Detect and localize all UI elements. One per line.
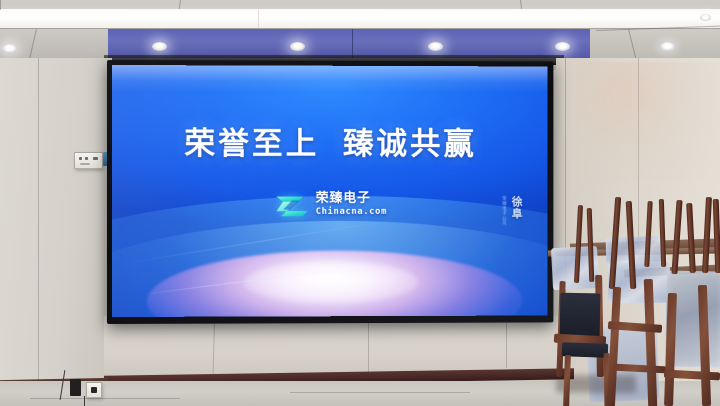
floor-seam-2 — [30, 398, 180, 399]
wall-outlet-upper-left[interactable] — [74, 152, 103, 169]
soffit-seam — [352, 29, 353, 58]
wall-seam-left-1 — [38, 58, 39, 388]
bottom-glow-ellipse — [147, 251, 522, 317]
outlet-plug-black — [70, 379, 81, 396]
ceiling-joint-d — [0, 0, 1, 10]
headline-left: 荣誉至上 — [184, 126, 319, 162]
slide-signature: 荣臻电子公司 徐阜 — [500, 196, 523, 226]
display-panel: 荣誉至上臻诚共赢 — [112, 65, 548, 317]
outlet-slot — [91, 387, 97, 393]
wall-seam-lower-2 — [368, 318, 369, 374]
furniture-group — [548, 175, 720, 406]
power-cord-2 — [84, 396, 85, 406]
floor-seam-1 — [290, 392, 470, 393]
signature-big-text: 徐阜 — [508, 196, 524, 220]
light-streak-2 — [122, 219, 399, 264]
background-arc-lower — [112, 221, 548, 317]
ceiling-light-strip — [0, 9, 720, 28]
chair-front-leg-left — [563, 355, 571, 406]
outlet-slot — [85, 157, 88, 160]
chair-leg-c2 — [659, 199, 666, 267]
outlet-slot — [80, 163, 90, 165]
ceiling-soffit — [108, 29, 590, 58]
wall-left — [0, 58, 112, 406]
downlight-7 — [700, 14, 711, 21]
wall-right-light-sheen — [576, 62, 720, 182]
wall-display[interactable]: 荣誉至上臻诚共赢 — [107, 60, 559, 324]
chair-leg-d1 — [671, 200, 682, 274]
logo-company-en: Chinacna.com — [316, 208, 387, 217]
signature-small-text: 荣臻电子公司 — [500, 196, 506, 226]
downlight-5 — [555, 42, 570, 51]
chair-backrest-cushion — [560, 293, 601, 338]
chair-leg-d2 — [686, 203, 696, 273]
logo-company-cn: 荣臻电子 — [316, 192, 387, 205]
chair-leg-e2 — [713, 199, 720, 273]
display-glass-top-reflection — [112, 65, 548, 92]
headline-right: 臻诚共赢 — [343, 126, 477, 162]
downlight-2 — [152, 42, 167, 51]
ceiling-light-strip-seam — [258, 9, 259, 28]
downlight-6 — [660, 42, 675, 51]
downlight-1 — [2, 44, 17, 53]
chinacna-arrow-logo-icon — [275, 191, 309, 218]
slide-headline: 荣誉至上臻诚共赢 — [112, 118, 548, 163]
downlight-4 — [428, 42, 443, 51]
logo-text-block: 荣臻电子 Chinacna.com — [316, 192, 387, 217]
room-photo-scene: 荣誉至上臻诚共赢 — [0, 0, 720, 406]
wall-outlet-lower-left[interactable] — [86, 382, 102, 398]
chair-leg-e1 — [702, 197, 712, 273]
outlet-slot — [79, 157, 82, 160]
outlet-slot — [93, 157, 98, 160]
light-streak-1 — [139, 269, 339, 295]
bottom-glow-core — [244, 261, 418, 304]
downlight-3 — [290, 42, 305, 51]
slide-logo-lockup: 荣臻电子 Chinacna.com — [112, 191, 548, 218]
